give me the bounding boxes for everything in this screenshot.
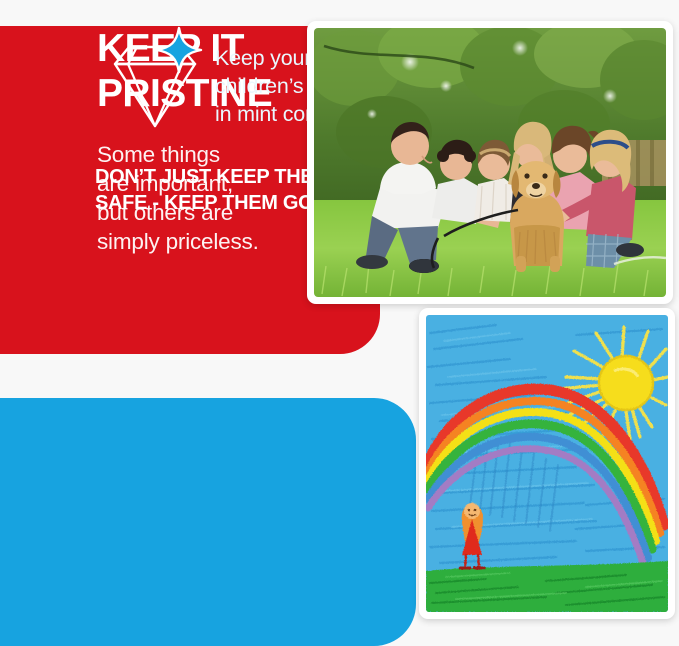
blue-message-panel: [0, 398, 416, 646]
family-with-dog-photo: [314, 28, 666, 297]
diamond-sparkle-icon: [95, 22, 213, 140]
infographic-canvas: KEEP IT PRISTINE Some things are importa…: [0, 0, 679, 646]
family-photo-frame: [307, 21, 673, 304]
drawing-frame: [419, 308, 675, 619]
childrens-rainbow-crayon-drawing: [426, 315, 668, 612]
